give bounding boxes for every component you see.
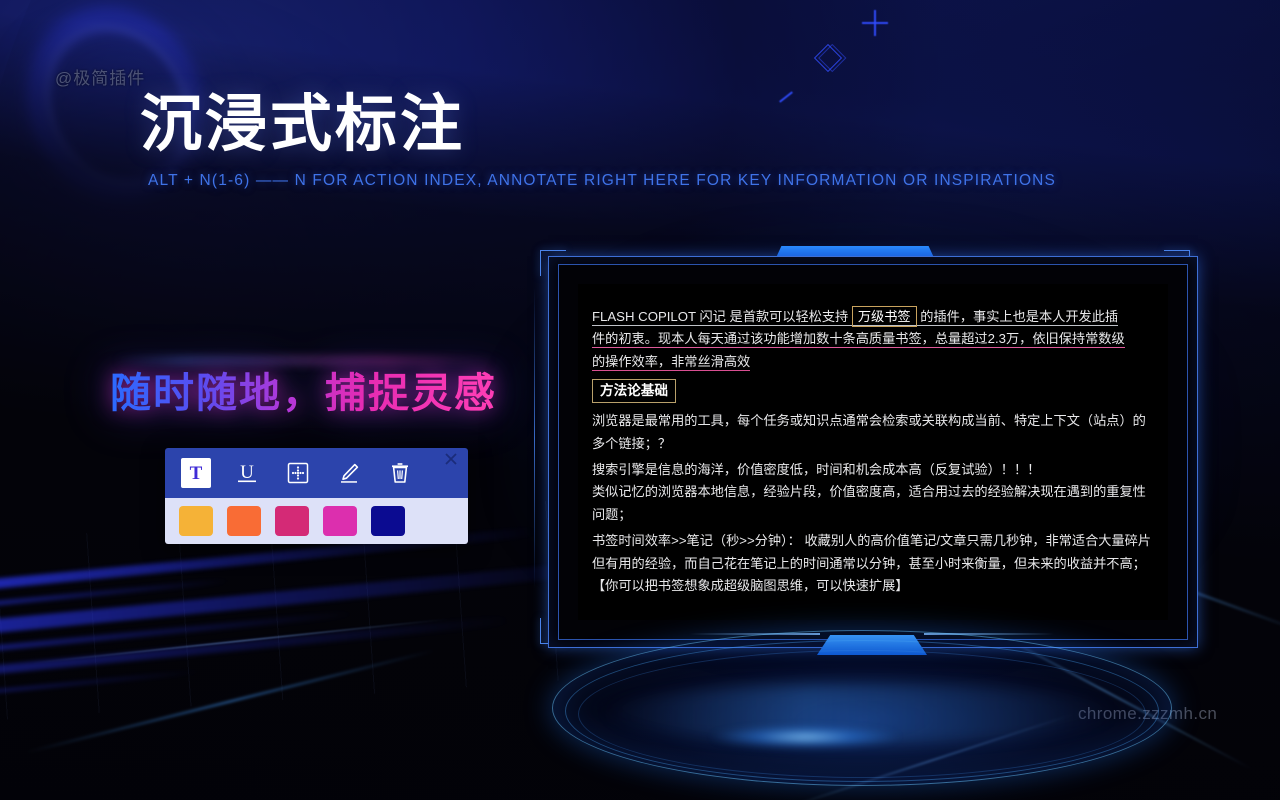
- neon-glow-bar: [115, 358, 495, 363]
- text-icon: T: [186, 463, 206, 483]
- page-title: 沉浸式标注: [140, 94, 465, 156]
- page-subtitle: ALT + N(1-6) —— N FOR ACTION INDEX, ANNO…: [148, 172, 1056, 190]
- annotation-toolbar-tools: T U: [165, 448, 468, 498]
- section-title[interactable]: 方法论基础: [592, 379, 676, 403]
- intro-line2: 件的初衷。现本人每天通过该功能增加数十条高质量书签，总量超过2.3万，依旧保持常…: [592, 331, 1125, 348]
- document-paragraph-3: 类似记忆的浏览器本地信息，经验片段，价值密度高，适合用过去的经验解决现在遇到的重…: [592, 481, 1154, 526]
- intro-line1-a: FLASH COPILOT 闪记 是首款可以轻松支持: [592, 309, 852, 324]
- annotated-document[interactable]: FLASH COPILOT 闪记 是首款可以轻松支持 万级书签 的插件，事实上也…: [592, 306, 1154, 597]
- pencil-icon: [337, 461, 361, 485]
- color-swatch-crimson-pink[interactable]: [275, 506, 309, 536]
- underline-icon: U: [236, 461, 258, 485]
- pen-tool-button[interactable]: [334, 458, 364, 488]
- intro-line1-b: 的插件，事实上也是本人开发此插: [917, 309, 1118, 324]
- intro-line3: 的操作效率，非常丝滑高效: [592, 354, 750, 371]
- delete-tool-button[interactable]: [385, 458, 415, 488]
- dotted-box-icon: [287, 462, 309, 484]
- color-swatch-navy[interactable]: [371, 506, 405, 536]
- monitor-screen: FLASH COPILOT 闪记 是首款可以轻松支持 万级书签 的插件，事实上也…: [578, 284, 1168, 620]
- color-swatch-magenta[interactable]: [323, 506, 357, 536]
- neon-slogan: 随时随地，捕捉灵感: [110, 370, 497, 417]
- monitor-platform-hotspot: [710, 726, 900, 748]
- underline-tool-button[interactable]: U: [232, 458, 262, 488]
- monitor-edge-left: [534, 288, 535, 588]
- close-icon[interactable]: [443, 451, 459, 467]
- svg-text:U: U: [240, 462, 254, 483]
- color-swatch-orange[interactable]: [227, 506, 261, 536]
- svg-text:T: T: [190, 463, 203, 483]
- annotation-toolbar[interactable]: T U: [165, 448, 468, 544]
- document-paragraph-1: 浏览器是最常用的工具，每个任务或知识点通常会检索或关联构成当前、特定上下文（站点…: [592, 410, 1154, 455]
- document-intro-paragraph: FLASH COPILOT 闪记 是首款可以轻松支持 万级书签 的插件，事实上也…: [592, 306, 1154, 373]
- color-palette: [165, 498, 468, 544]
- document-paragraph-2: 搜索引擎是信息的海洋，价值密度低，时间和机会成本高（反复试验）！！！: [592, 459, 1154, 481]
- text-tool-button[interactable]: T: [181, 458, 211, 488]
- highlighted-term[interactable]: 万级书签: [852, 306, 917, 327]
- watermark-top-left: @极简插件: [55, 64, 145, 89]
- trash-icon: [388, 461, 412, 485]
- monitor: FLASH COPILOT 闪记 是首款可以轻松支持 万级书签 的插件，事实上也…: [520, 232, 1200, 652]
- plus-icon: [862, 10, 888, 36]
- color-swatch-amber[interactable]: [179, 506, 213, 536]
- highlight-tool-button[interactable]: [283, 458, 313, 488]
- document-paragraph-4: 书签时间效率>>笔记（秒>>分钟）： 收藏别人的高价值笔记/文章只需几秒钟，非常…: [592, 530, 1154, 597]
- section-title-wrap: 方法论基础: [592, 373, 1154, 408]
